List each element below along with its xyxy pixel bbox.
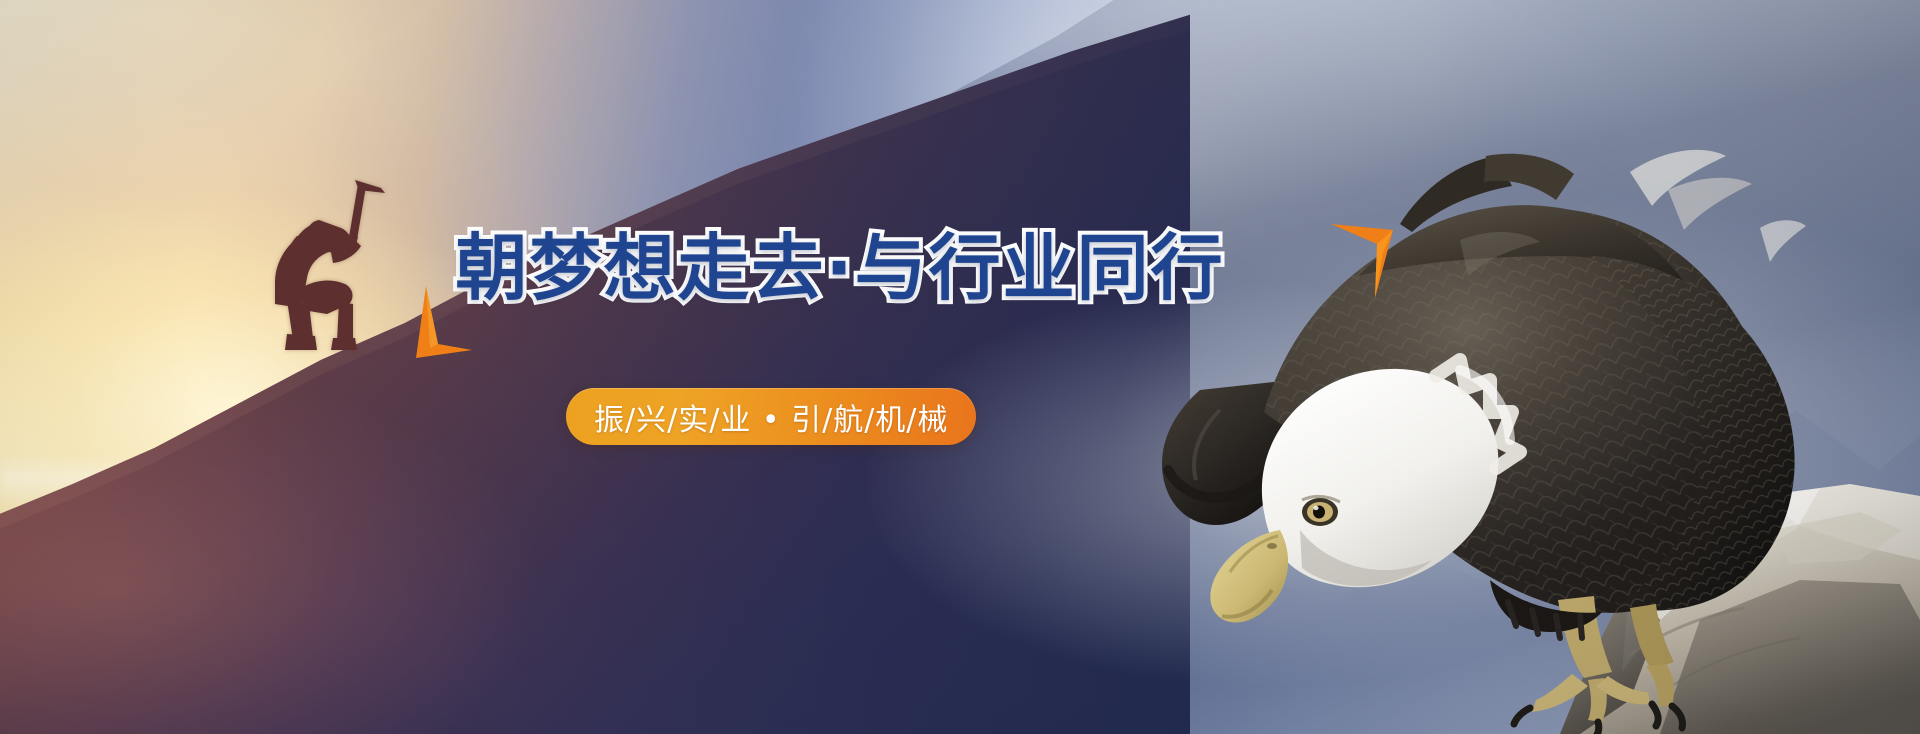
hero-banner: 朝梦想走去·与行业同行 振/兴/实/业 • 引/航/机/械 (0, 0, 1920, 734)
banner-tagline-badge: 振/兴/实/业 • 引/航/机/械 (566, 388, 976, 445)
banner-copy-block: 朝梦想走去·与行业同行 (430, 232, 1250, 304)
bald-eagle-illustration (1160, 60, 1920, 734)
banner-headline: 朝梦想走去·与行业同行 (430, 232, 1250, 304)
banner-tagline-text: 振/兴/实/业 • 引/航/机/械 (594, 395, 948, 439)
eagle-beak (1210, 530, 1288, 623)
climber-silhouette (235, 174, 425, 364)
